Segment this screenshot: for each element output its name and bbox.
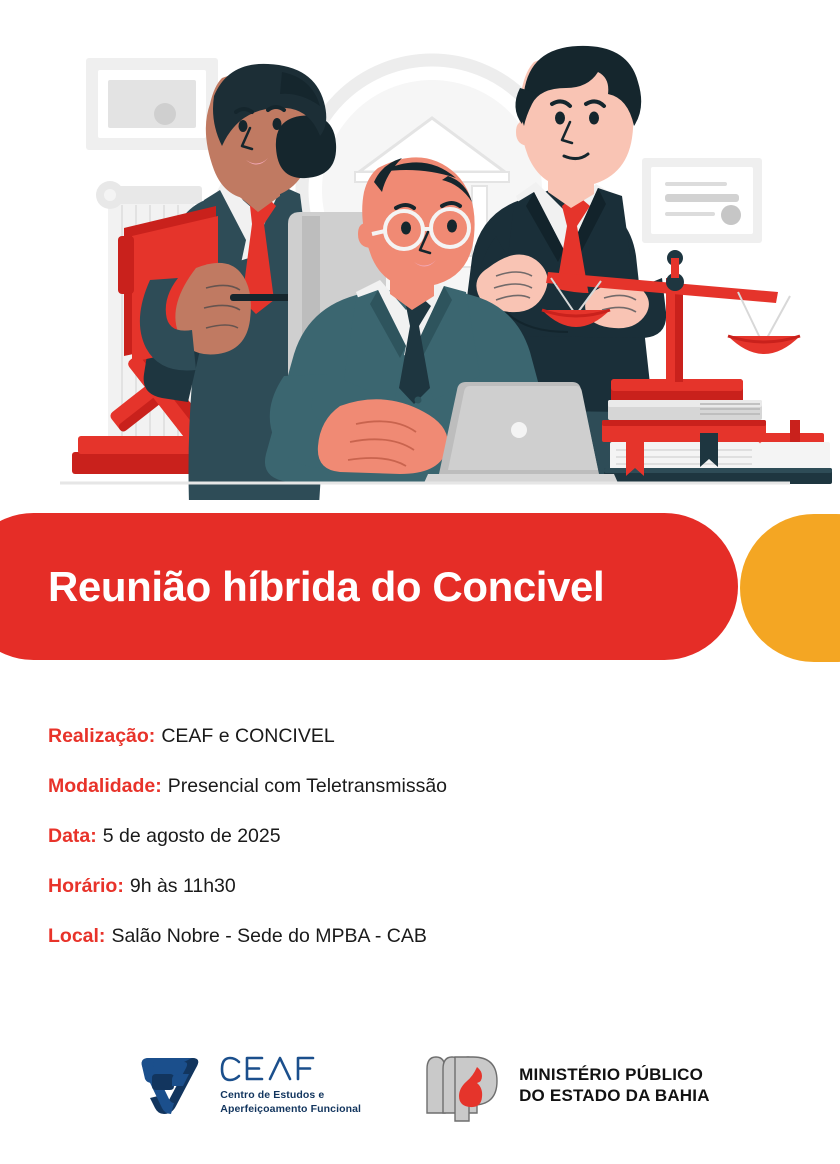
ceaf-tagline-line2: Aperfeiçoamento Funcional [220,1103,361,1116]
footer-logos: Centro de Estudos e Aperfeiçoamento Func… [0,1030,840,1140]
detail-row-realizacao: Realização: CEAF e CONCIVEL [48,712,768,762]
hero-illustration [0,0,840,500]
ceaf-tagline: Centro de Estudos e Aperfeiçoamento Func… [220,1089,361,1115]
detail-label: Local: [48,925,105,948]
event-details-list: Realização: CEAF e CONCIVEL Modalidade: … [48,712,768,962]
detail-row-data: Data: 5 de agosto de 2025 [48,812,768,862]
mp-logo: MINISTÉRIO PÚBLICO DO ESTADO DA BAHIA [421,1047,710,1123]
framed-picture-left-icon [86,58,218,150]
banner-yellow-accent [740,514,840,662]
detail-value: Salão Nobre - Sede do MPBA - CAB [111,925,426,948]
detail-row-local: Local: Salão Nobre - Sede do MPBA - CAB [48,912,768,962]
mp-text-block: MINISTÉRIO PÚBLICO DO ESTADO DA BAHIA [519,1064,710,1107]
detail-label: Realização: [48,725,155,748]
detail-row-modalidade: Modalidade: Presencial com Teletransmiss… [48,762,768,812]
ceaf-wordmark [220,1054,361,1084]
title-banner: Reunião híbrida do Concivel [0,513,840,663]
detail-value: CEAF e CONCIVEL [161,725,334,748]
detail-row-horario: Horário: 9h às 11h30 [48,862,768,912]
detail-value: 5 de agosto de 2025 [103,825,281,848]
event-poster: Reunião híbrida do Concivel Realização: … [0,0,840,1164]
mp-mark-icon [421,1047,503,1123]
ceaf-mark-icon [130,1050,208,1120]
mp-line1: MINISTÉRIO PÚBLICO [519,1064,710,1085]
detail-value: 9h às 11h30 [130,875,236,898]
ceaf-text-block: Centro de Estudos e Aperfeiçoamento Func… [220,1054,361,1115]
detail-value: Presencial com Teletransmissão [168,775,447,798]
framed-certificate-icon [642,158,762,243]
detail-label: Modalidade: [48,775,162,798]
detail-label: Data: [48,825,97,848]
ceaf-tagline-line1: Centro de Estudos e [220,1089,361,1102]
mp-line2: DO ESTADO DA BAHIA [519,1085,710,1106]
detail-label: Horário: [48,875,124,898]
ceaf-logo: Centro de Estudos e Aperfeiçoamento Func… [130,1050,361,1120]
page-title: Reunião híbrida do Concivel [48,513,708,660]
